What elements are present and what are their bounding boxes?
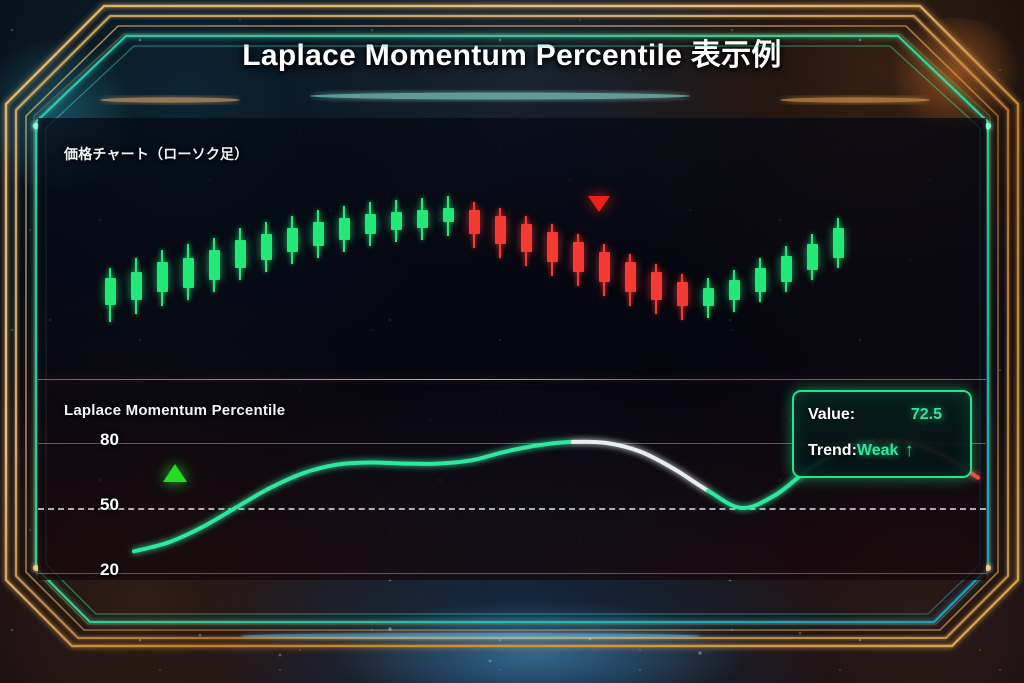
candlestick	[677, 118, 688, 378]
candlestick	[339, 118, 350, 378]
candlestick	[651, 118, 662, 378]
candle-body	[495, 216, 506, 244]
candle-body	[521, 224, 532, 252]
candlestick	[183, 118, 194, 378]
candlestick	[495, 118, 506, 378]
candlestick	[807, 118, 818, 378]
oscillator-line-segment	[708, 491, 742, 508]
oscillator-line-segment	[202, 508, 236, 528]
candlestick	[209, 118, 220, 378]
trend-up-arrow-icon: ↑	[904, 440, 914, 462]
candlestick	[131, 118, 142, 378]
candle-body	[651, 272, 662, 300]
oscillator-line-segment	[370, 462, 404, 463]
candlestick	[391, 118, 402, 378]
oscillator-line-segment	[573, 442, 607, 443]
candle-body	[417, 210, 428, 228]
candlestick	[625, 118, 636, 378]
price-chart-panel: 価格チャート（ローソク足）	[38, 118, 986, 378]
candlestick	[833, 118, 844, 378]
candlestick	[235, 118, 246, 378]
candlestick	[599, 118, 610, 378]
candlestick	[729, 118, 740, 378]
oscillator-line-segment	[438, 460, 472, 463]
candlestick	[313, 118, 324, 378]
oscillator-line-segment	[235, 489, 269, 509]
candlestick	[547, 118, 558, 378]
oscillator-line-segment	[134, 543, 168, 552]
oscillator-line-segment	[337, 463, 371, 465]
candlestick	[469, 118, 480, 378]
oscillator-line-segment	[168, 528, 202, 543]
candlestick	[417, 118, 428, 378]
oscillator-panel: Laplace Momentum Percentile 80 50 20	[38, 380, 986, 580]
trend-label: Trend:	[808, 442, 857, 460]
candlestick	[703, 118, 714, 378]
candlestick	[365, 118, 376, 378]
candle-body	[599, 252, 610, 282]
candlestick	[755, 118, 766, 378]
candlestick	[781, 118, 792, 378]
candle-body	[443, 208, 454, 222]
candlestick	[573, 118, 584, 378]
candle-body	[755, 268, 766, 292]
candlestick	[287, 118, 298, 378]
candle-body	[469, 210, 480, 234]
nebula-glow-bottom	[330, 600, 750, 683]
candle-body	[729, 280, 740, 300]
candle-body	[625, 262, 636, 292]
candlestick	[157, 118, 168, 378]
candle-body	[313, 222, 324, 246]
candlestick	[443, 118, 454, 378]
page-title: Laplace Momentum Percentile 表示例	[0, 30, 1024, 74]
candle-body	[183, 258, 194, 288]
trend-readout: Weak	[857, 442, 899, 460]
candle-body	[391, 212, 402, 230]
trend-row: Trend: Weak ↑	[808, 440, 960, 462]
bottom-star-cluster	[160, 615, 880, 683]
candle-body	[157, 262, 168, 292]
candle-body	[339, 218, 350, 240]
oscillator-line-segment	[269, 473, 303, 488]
status-info-box[interactable]: Value: 72.5 Trend: Weak ↑	[792, 390, 972, 478]
oscillator-line-segment	[742, 495, 776, 508]
oscillator-line-segment	[640, 452, 674, 469]
oscillator-line-segment	[607, 443, 641, 452]
candle-body	[261, 234, 272, 260]
oscillator-line-segment	[303, 465, 337, 474]
oscillator-line-segment	[674, 469, 708, 491]
candle-body	[105, 278, 116, 305]
oscillator-line-segment	[505, 445, 539, 452]
value-readout: 72.5	[911, 406, 942, 424]
candle-body	[703, 288, 714, 306]
candle-body	[131, 272, 142, 300]
candle-body	[365, 214, 376, 234]
oscillator-line-segment	[539, 442, 573, 445]
screenshot-root: Laplace Momentum Percentile 表示例	[0, 0, 1024, 683]
value-row: Value: 72.5	[808, 406, 960, 424]
candle-body	[287, 228, 298, 252]
oscillator-line-segment	[472, 452, 506, 461]
candlestick	[521, 118, 532, 378]
candlestick	[261, 118, 272, 378]
candle-body	[547, 232, 558, 262]
candle-body	[781, 256, 792, 282]
candle-body	[573, 242, 584, 272]
candle-body	[235, 240, 246, 268]
candle-body	[807, 244, 818, 270]
chart-screen: 価格チャート（ローソク足） Laplace Momentum Percentil…	[38, 118, 986, 580]
candle-body	[209, 250, 220, 280]
candle-body	[677, 282, 688, 306]
price-sell-signal-triangle	[588, 196, 610, 212]
value-label: Value:	[808, 406, 855, 424]
candlestick	[105, 118, 116, 378]
candle-body	[833, 228, 844, 258]
